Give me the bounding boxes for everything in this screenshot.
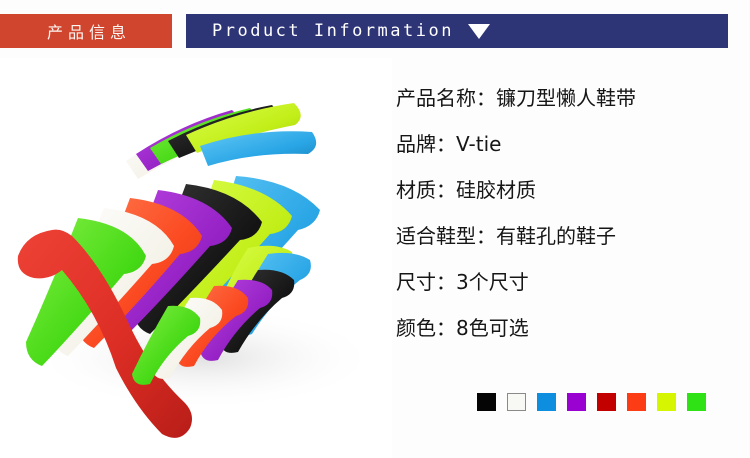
spec-shoe-type: 适合鞋型：有鞋孔的鞋子	[396, 226, 742, 246]
caret-down-icon	[468, 24, 490, 39]
spec-brand: 品牌：V-tie	[396, 134, 742, 154]
color-swatch-orange-red[interactable]	[627, 393, 646, 411]
english-section-banner[interactable]: Product Information	[186, 14, 728, 48]
english-section-label: Product Information	[212, 21, 454, 41]
product-spec-list: 产品名称：镰刀型懒人鞋带 品牌：V-tie 材质：硅胶材质 适合鞋型：有鞋孔的鞋…	[396, 88, 742, 364]
color-swatch-purple[interactable]	[567, 393, 586, 411]
color-swatch-black[interactable]	[477, 393, 496, 411]
color-swatch-dark-red[interactable]	[597, 393, 616, 411]
spec-material: 材质：硅胶材质	[396, 180, 742, 200]
chinese-section-banner: 产品信息	[0, 14, 172, 48]
color-swatch-green[interactable]	[687, 393, 706, 411]
chinese-section-label: 产品信息	[47, 19, 131, 43]
color-swatch-row	[477, 393, 706, 411]
spec-product-name: 产品名称：镰刀型懒人鞋带	[396, 88, 742, 108]
page-header: 产品信息 Product Information	[0, 14, 750, 48]
product-photo	[0, 58, 392, 458]
color-swatch-yellow-green[interactable]	[657, 393, 676, 411]
color-swatch-blue[interactable]	[537, 393, 556, 411]
spec-size: 尺寸：3个尺寸	[396, 272, 742, 292]
color-swatch-white[interactable]	[507, 393, 526, 411]
spec-color-count: 颜色：8色可选	[396, 318, 742, 338]
product-photo-illustration	[0, 58, 392, 458]
